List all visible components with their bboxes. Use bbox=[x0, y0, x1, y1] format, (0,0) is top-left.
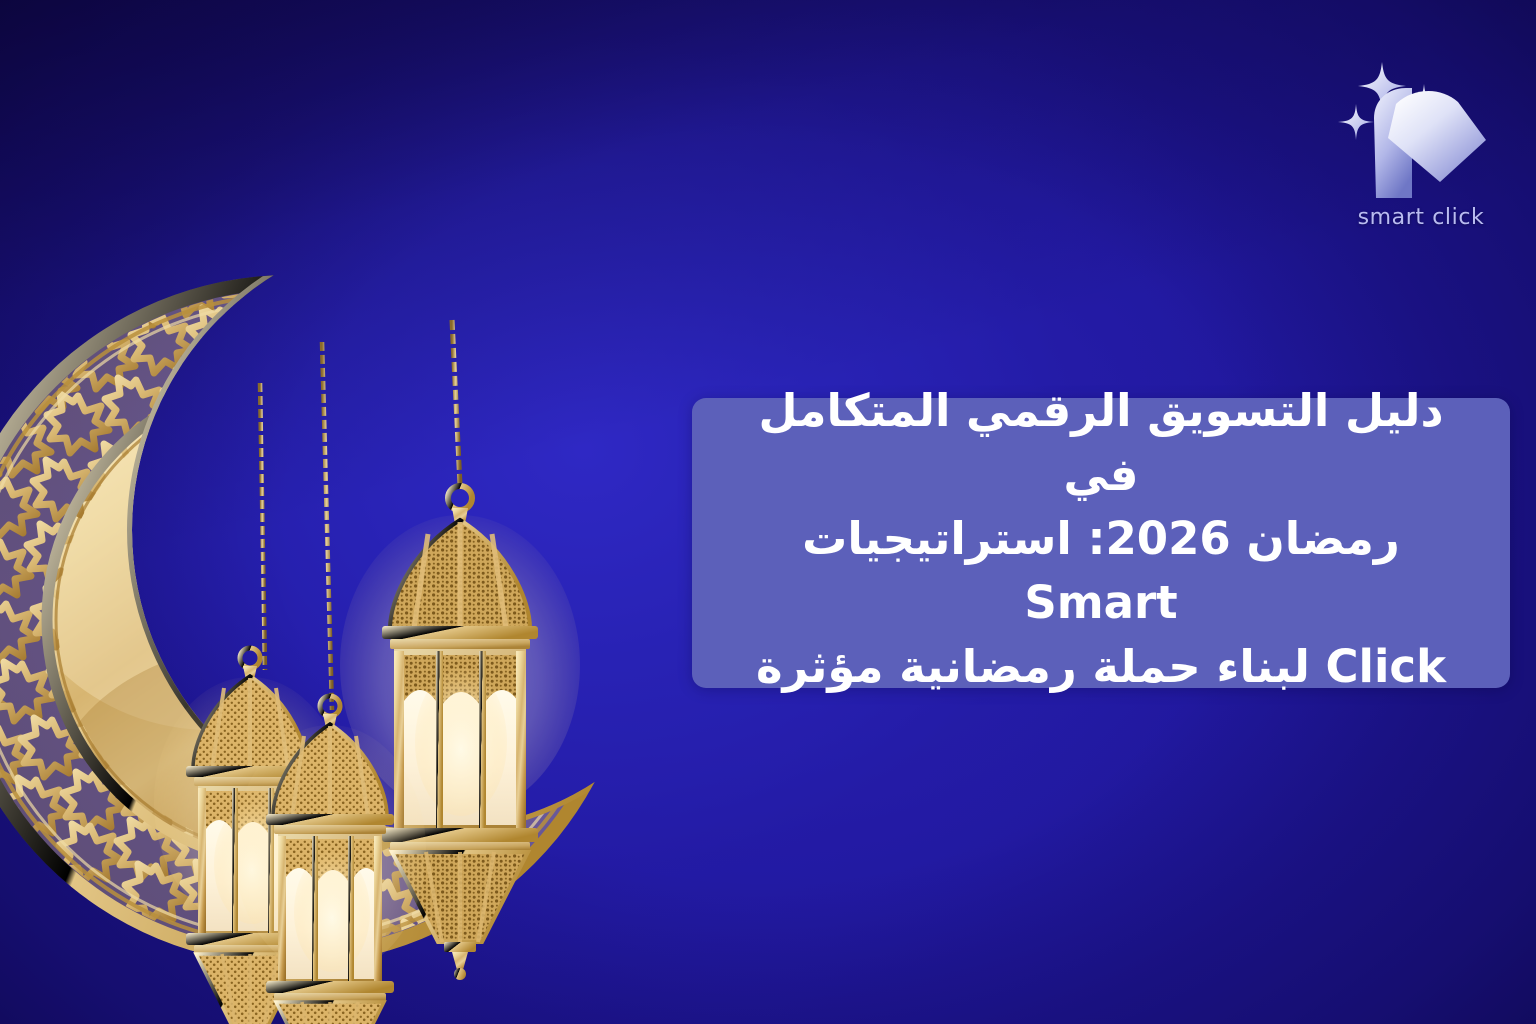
ramadan-promo-banner: smart click دليل التسويق الرقمي المتكامل… bbox=[0, 0, 1536, 1024]
headline-line-1: دليل التسويق الرقمي المتكامل في bbox=[758, 384, 1443, 501]
headline-card: دليل التسويق الرقمي المتكامل في رمضان 20… bbox=[692, 398, 1510, 688]
logo-wordmark: smart click bbox=[1336, 205, 1506, 230]
page-title: دليل التسويق الرقمي المتكامل في رمضان 20… bbox=[718, 379, 1484, 698]
headline-line-2: رمضان 2026: استراتيجيات Smart bbox=[802, 512, 1400, 629]
cursor-mark bbox=[1374, 88, 1486, 198]
smart-click-logo[interactable]: smart click bbox=[1336, 52, 1506, 232]
headline-line-3: Click لبناء حملة رمضانية مؤثرة bbox=[756, 640, 1446, 693]
